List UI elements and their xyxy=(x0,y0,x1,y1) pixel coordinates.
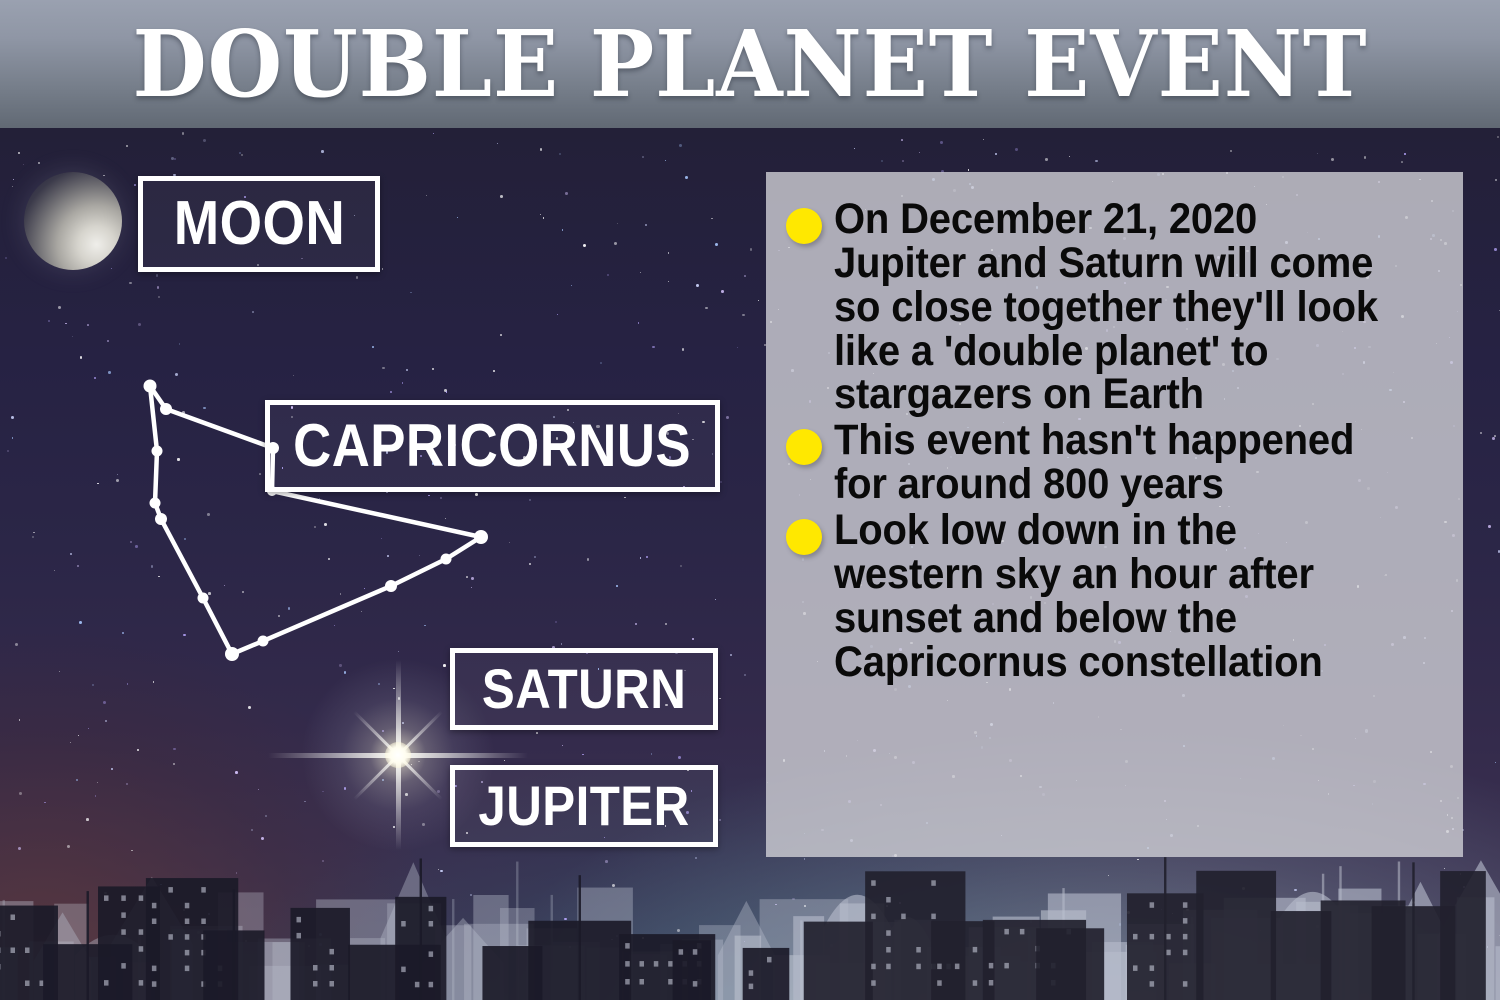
label-moon-text: MOON xyxy=(173,193,344,255)
info-panel: On December 21, 2020 Jupiter and Saturn … xyxy=(766,172,1463,857)
page-title: DOUBLE PLANET EVENT xyxy=(53,0,1448,128)
label-jupiter-text: JUPITER xyxy=(478,778,689,834)
header-bar: DOUBLE PLANET EVENT xyxy=(0,0,1500,128)
label-saturn: SATURN xyxy=(450,648,718,730)
fact-text: This event hasn't happened for around 80… xyxy=(834,419,1395,507)
label-moon: MOON xyxy=(138,176,380,272)
label-capricornus-text: CAPRICORNUS xyxy=(294,416,692,476)
list-item: This event hasn't happened for around 80… xyxy=(786,419,1437,507)
fact-text: Look low down in the western sky an hour… xyxy=(834,509,1395,684)
fact-text: On December 21, 2020 Jupiter and Saturn … xyxy=(834,198,1395,417)
label-capricornus: CAPRICORNUS xyxy=(265,400,720,492)
label-jupiter: JUPITER xyxy=(450,765,718,847)
bullet-dot-icon xyxy=(786,519,822,555)
list-item: On December 21, 2020 Jupiter and Saturn … xyxy=(786,198,1437,417)
fact-list: On December 21, 2020 Jupiter and Saturn … xyxy=(786,198,1437,684)
label-saturn-text: SATURN xyxy=(482,661,686,717)
infographic-root: DOUBLE PLANET EVENT MOON CAPRICORNUS SAT… xyxy=(0,0,1500,1000)
bullet-dot-icon xyxy=(786,208,822,244)
bullet-dot-icon xyxy=(786,429,822,465)
star-core xyxy=(385,742,411,768)
list-item: Look low down in the western sky an hour… xyxy=(786,509,1437,684)
